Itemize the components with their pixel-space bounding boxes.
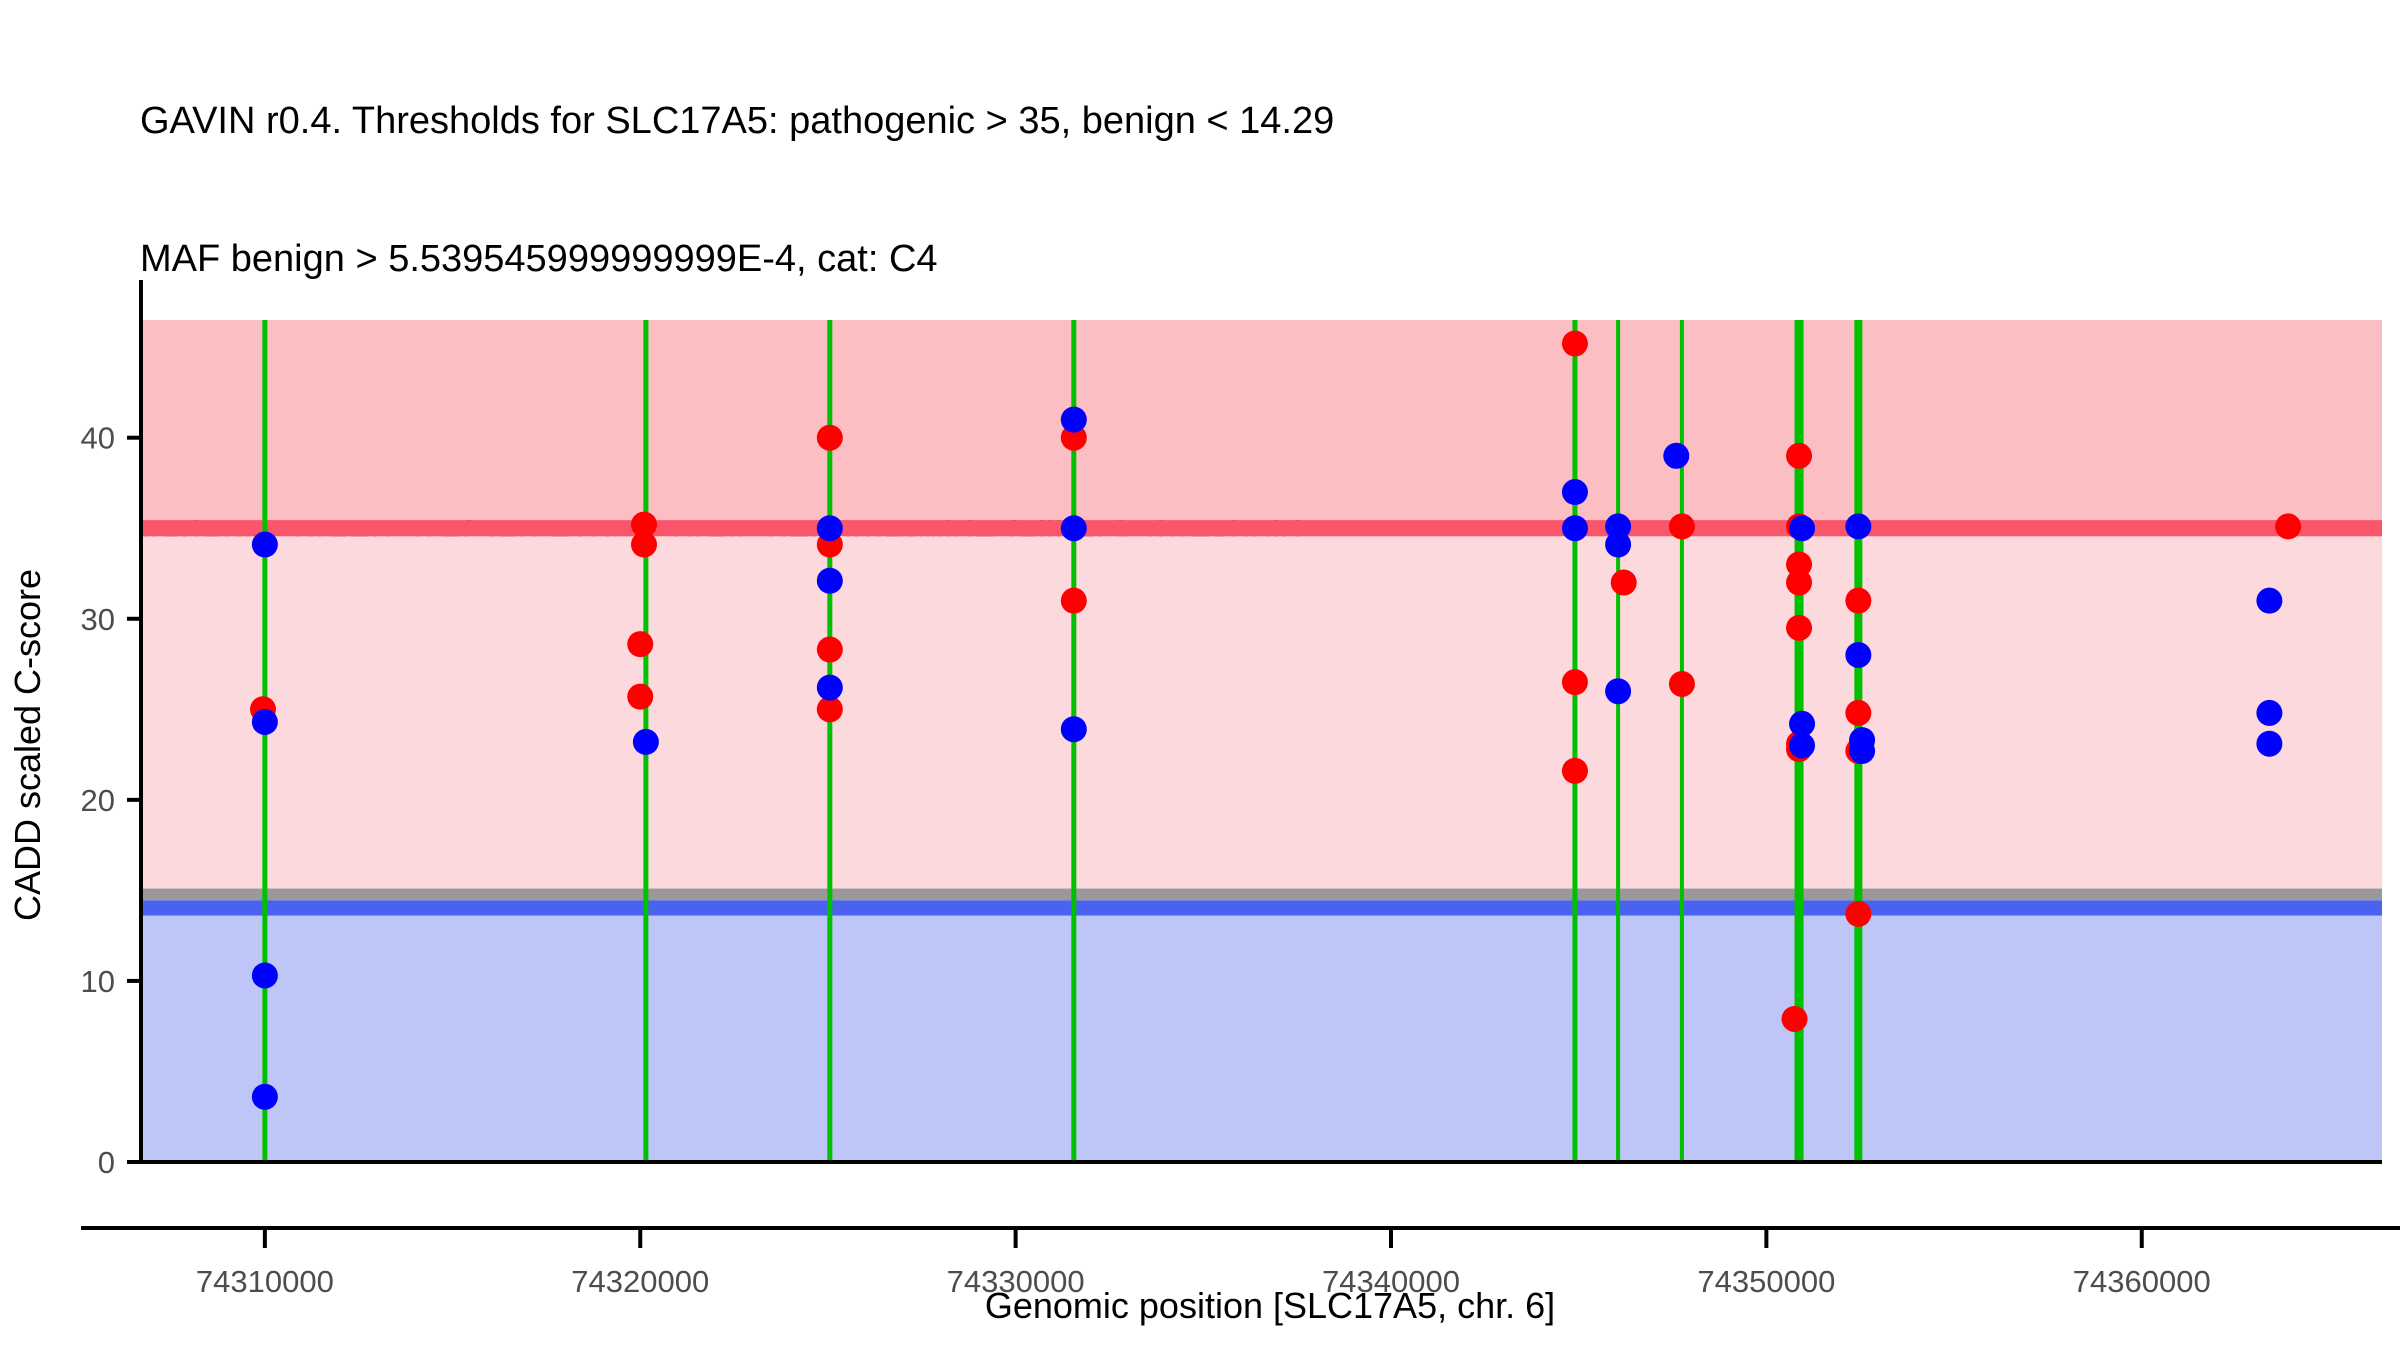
gnomad-point-26 xyxy=(2256,731,2282,757)
gnomad-point-23 xyxy=(1849,738,1875,764)
pathogenic-point-29 xyxy=(2275,513,2301,539)
gnomad-point-25 xyxy=(2256,700,2282,726)
band-pathogenic-zone-upper xyxy=(141,320,2382,520)
exon-line-4 xyxy=(1572,320,1577,1162)
gnomad-point-3 xyxy=(252,1084,278,1110)
pathogenic-point-4 xyxy=(627,684,653,710)
gnomad-point-10 xyxy=(1061,716,1087,742)
gnomad-point-4 xyxy=(633,729,659,755)
x-tick-label-5: 74360000 xyxy=(2073,1264,2211,1299)
gnomad-point-6 xyxy=(817,568,843,594)
pathogenic-point-21 xyxy=(1786,615,1812,641)
x-axis-title: Genomic position [SLC17A5, chr. 6] xyxy=(985,1285,1555,1326)
gnomad-point-14 xyxy=(1605,532,1631,558)
gnomad-point-1 xyxy=(252,709,278,735)
gnomad-point-19 xyxy=(1789,733,1815,759)
gnomad-point-11 xyxy=(1562,479,1588,505)
gnomad-point-21 xyxy=(1845,642,1871,668)
pathogenic-point-7 xyxy=(817,637,843,663)
y-tick-label-0: 0 xyxy=(98,1145,115,1180)
pathogenic-point-3 xyxy=(627,631,653,657)
pathogenic-point-20 xyxy=(1786,570,1812,596)
gnomad-point-2 xyxy=(252,962,278,988)
threshold-bands xyxy=(141,320,2382,1162)
exon-line-5 xyxy=(1616,320,1620,1162)
pathogenic-point-11 xyxy=(1562,331,1588,357)
chart-page: GAVIN r0.4. Thresholds for SLC17A5: path… xyxy=(0,0,2400,1350)
gnomad-point-12 xyxy=(1562,515,1588,541)
x-tick-label-0: 74310000 xyxy=(196,1264,334,1299)
pathogenic-point-5 xyxy=(817,425,843,451)
band-pathogenic-threshold-band xyxy=(141,520,2382,536)
pathogenic-point-13 xyxy=(1562,758,1588,784)
gnomad-point-17 xyxy=(1789,515,1815,541)
pathogenic-point-17 xyxy=(1786,443,1812,469)
gnomad-point-7 xyxy=(817,675,843,701)
gnomad-point-20 xyxy=(1845,513,1871,539)
y-tick-label-3: 30 xyxy=(81,602,115,637)
band-benign-threshold-band xyxy=(141,900,2382,915)
y-tick-label-4: 40 xyxy=(81,421,115,456)
y-tick-label-1: 10 xyxy=(81,964,115,999)
pathogenic-point-2 xyxy=(631,532,657,558)
gnomad-point-0 xyxy=(252,532,278,558)
gnomad-point-16 xyxy=(1663,443,1689,469)
pathogenic-point-14 xyxy=(1611,570,1637,596)
y-tick-label-2: 20 xyxy=(81,783,115,818)
gnomad-point-24 xyxy=(2256,588,2282,614)
pathogenic-point-28 xyxy=(1845,901,1871,927)
pathogenic-point-15 xyxy=(1669,513,1695,539)
band-genome-wide-fallback-band xyxy=(141,889,2382,901)
scatter-plot: 0102030407431000074320000743300007434000… xyxy=(0,0,2400,1350)
x-tick-label-1: 74320000 xyxy=(571,1264,709,1299)
y-axis-title: CADD scaled C-score xyxy=(7,569,48,921)
pathogenic-point-12 xyxy=(1562,669,1588,695)
pathogenic-point-26 xyxy=(1845,700,1871,726)
pathogenic-point-16 xyxy=(1669,671,1695,697)
gnomad-point-15 xyxy=(1605,678,1631,704)
pathogenic-point-24 xyxy=(1782,1006,1808,1032)
pathogenic-point-25 xyxy=(1845,588,1871,614)
band-pathogenic-zone-lower xyxy=(141,536,2382,888)
x-tick-label-4: 74350000 xyxy=(1697,1264,1835,1299)
gnomad-point-5 xyxy=(817,515,843,541)
band-benign-zone xyxy=(141,916,2382,1162)
pathogenic-point-10 xyxy=(1061,588,1087,614)
exon-line-0 xyxy=(262,320,267,1162)
gnomad-point-8 xyxy=(1061,407,1087,433)
gnomad-point-9 xyxy=(1061,515,1087,541)
